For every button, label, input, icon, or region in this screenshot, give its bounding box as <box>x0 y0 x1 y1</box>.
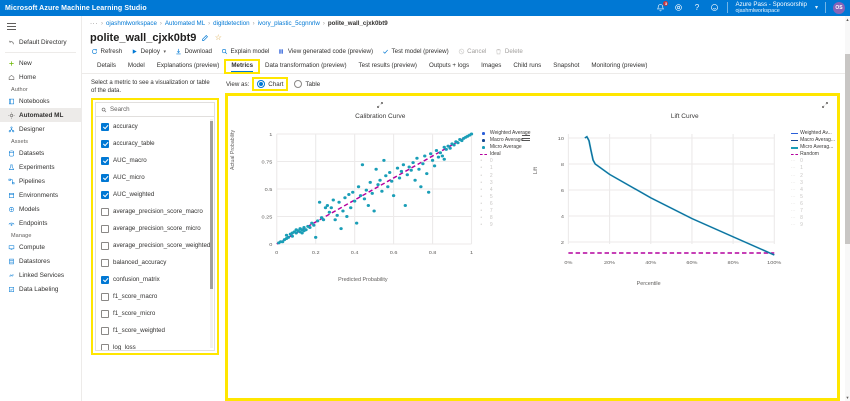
pipelines-icon <box>7 177 15 185</box>
chart-panel: View as: Chart Table <box>219 79 842 401</box>
tab-bar: Details Model Explanations (preview) Met… <box>82 58 850 74</box>
svg-text:0.5: 0.5 <box>265 187 273 193</box>
legend-item[interactable]: •9 <box>480 222 530 229</box>
svg-text:0: 0 <box>275 250 278 256</box>
svg-text:100%: 100% <box>767 260 782 266</box>
legend-item[interactable]: Macro Average <box>480 137 530 144</box>
metric-checkbox[interactable] <box>101 208 109 216</box>
svg-text:0.8: 0.8 <box>429 250 437 256</box>
search-input[interactable]: Search <box>96 103 214 117</box>
page-scrollbar[interactable]: ▲ ▼ <box>845 16 850 401</box>
notification-badge: 3 <box>663 1 668 6</box>
plus-icon <box>7 59 15 67</box>
svg-text:60%: 60% <box>686 260 697 266</box>
legend-marker-icon <box>791 145 798 150</box>
sidebar-item-datasets[interactable]: Datasets <box>0 146 81 160</box>
top-bar-actions: 3 ? Azure Pass - Sponsorship ojashmlwork… <box>655 1 845 14</box>
hamburger-menu-icon[interactable] <box>0 19 81 35</box>
legend-label: 6 <box>490 201 493 208</box>
legend-item[interactable]: Ideal <box>480 151 530 158</box>
metric-row-f1-micro[interactable]: f1_score_micro <box>96 305 214 322</box>
breadcrumb-item-current: polite_wall_cjxk0bt9 <box>328 20 388 27</box>
legend-marker-icon: • <box>480 216 487 221</box>
sidebar-item-datastores[interactable]: Datastores <box>0 254 81 268</box>
app-shell: Default Directory New Home Author Notebo… <box>0 16 850 401</box>
sidebar-item-default-directory[interactable]: Default Directory <box>0 35 81 49</box>
sidebar-item-label: Notebooks <box>19 98 50 105</box>
sidebar-item-models[interactable]: Models <box>0 202 81 216</box>
expand-icon[interactable] <box>821 101 829 109</box>
cancel-button: Cancel <box>458 48 487 55</box>
view-as-label: View as: <box>226 81 249 88</box>
legend-label: 0 <box>800 158 803 165</box>
tab-details[interactable]: Details <box>91 60 122 73</box>
toolbar-label: Deploy <box>141 48 160 55</box>
app-title: Microsoft Azure Machine Learning Studio <box>5 5 147 12</box>
sidebar-item-home[interactable]: Home <box>0 70 81 84</box>
legend-item[interactable]: Macro Averag... <box>791 137 835 144</box>
breadcrumb-separator: › <box>208 21 210 27</box>
tab-child-runs[interactable]: Child runs <box>507 60 547 73</box>
legend-item[interactable]: •3 <box>480 180 530 187</box>
metric-row-auc-weighted[interactable]: AUC_weighted <box>96 186 214 203</box>
legend-label: 8 <box>800 215 803 222</box>
sidebar-item-label: Models <box>19 206 40 213</box>
explain-model-button[interactable]: Explain model <box>221 48 269 55</box>
legend-label: 7 <box>490 208 493 215</box>
legend-item[interactable]: ⋯4 <box>791 187 835 194</box>
svg-text:10: 10 <box>557 136 563 142</box>
toolbar-label: Test model (preview) <box>392 48 449 55</box>
sidebar-item-environments[interactable]: Environments <box>0 188 81 202</box>
main-content: ··· › ojashmlworkspace › Automated ML › … <box>82 16 850 401</box>
legend-marker-icon: ⋯ <box>791 159 798 164</box>
breadcrumb-item-automated-ml[interactable]: Automated ML <box>165 20 205 27</box>
avatar[interactable]: OS <box>833 2 845 14</box>
legend-marker-icon: • <box>480 159 487 164</box>
legend-marker-icon: ⋯ <box>791 209 798 214</box>
search-placeholder: Search <box>110 106 130 113</box>
command-toolbar: Refresh Deploy ▾ Download Explain model <box>82 47 850 58</box>
legend-marker-icon: ⋯ <box>791 202 798 207</box>
notebook-icon <box>7 97 15 105</box>
svg-text:8: 8 <box>560 162 563 168</box>
metric-checkbox[interactable] <box>101 242 109 250</box>
tab-snapshot[interactable]: Snapshot <box>547 60 585 73</box>
legend-item[interactable]: ⋯8 <box>791 215 835 222</box>
tab-metrics[interactable]: Metrics <box>225 60 259 73</box>
legend-item[interactable]: Micro Average <box>480 144 530 151</box>
checkmark-icon <box>382 48 389 55</box>
calibration-curve-card: Calibration Curve <box>228 96 533 398</box>
legend-marker-icon: • <box>480 188 487 193</box>
delete-icon <box>495 48 502 55</box>
metric-checkbox[interactable] <box>101 259 109 267</box>
metric-checkbox[interactable] <box>101 191 109 199</box>
breadcrumb-item-workspace[interactable]: ojashmlworkspace <box>106 20 157 27</box>
legend-marker-icon: • <box>480 174 487 179</box>
metric-list-scrollbar[interactable] <box>210 119 213 348</box>
legend-item[interactable]: Weighted Av... <box>791 130 835 137</box>
svg-text:1: 1 <box>470 250 473 256</box>
toolbar-label: Refresh <box>101 48 123 55</box>
refresh-icon <box>91 48 98 55</box>
legend-label: 1 <box>800 165 803 172</box>
left-navigation: Default Directory New Home Author Notebo… <box>0 16 82 401</box>
legend-label: Ideal <box>490 151 501 158</box>
sidebar-item-endpoints[interactable]: Endpoints <box>0 216 81 230</box>
legend-item[interactable]: ⋯5 <box>791 194 835 201</box>
radio-label: Table <box>305 81 320 88</box>
legend-item[interactable]: •1 <box>480 165 530 172</box>
legend-label: 0 <box>490 158 493 165</box>
cancel-icon <box>458 48 465 55</box>
lift-legend: Weighted Av... Macro Averag... Micro Ave… <box>791 130 835 229</box>
tab-explanations[interactable]: Explanations (preview) <box>151 60 226 73</box>
sidebar-item-notebooks[interactable]: Notebooks <box>0 94 81 108</box>
legend-item[interactable]: •0 <box>480 158 530 165</box>
breadcrumb-separator: › <box>101 21 103 27</box>
favorite-star-icon[interactable]: ☆ <box>214 34 222 42</box>
radio-table[interactable]: Table <box>291 79 323 89</box>
scrollbar-thumb[interactable] <box>845 54 850 244</box>
legend-label: 2 <box>490 173 493 180</box>
scroll-up-arrow-icon[interactable]: ▲ <box>845 17 850 22</box>
tab-test-results[interactable]: Test results (preview) <box>353 60 423 73</box>
metric-label: accuracy <box>113 123 138 130</box>
sidebar-item-compute[interactable]: Compute <box>0 240 81 254</box>
environments-icon <box>7 191 15 199</box>
legend-marker-icon: • <box>480 167 487 172</box>
metric-checkbox[interactable] <box>101 293 109 301</box>
sidebar-item-label: Datasets <box>19 150 44 157</box>
legend-label: 8 <box>490 215 493 222</box>
sidebar-item-label: Pipelines <box>19 178 45 185</box>
metric-row-accuracy-table[interactable]: accuracy_table <box>96 135 214 152</box>
legend-label: Macro Average <box>490 137 524 144</box>
delete-button: Delete <box>495 48 522 55</box>
tab-model[interactable]: Model <box>122 60 151 73</box>
experiments-icon <box>7 163 15 171</box>
metric-label: f1_score_weighted <box>113 327 165 334</box>
back-arrow-icon <box>7 38 15 46</box>
legend-marker-icon <box>480 152 487 157</box>
sidebar-directory-label: Default Directory <box>19 39 67 46</box>
lift-curve-card: Lift Curve <box>533 96 838 398</box>
automated-ml-icon <box>7 111 15 119</box>
svg-text:0.75: 0.75 <box>262 160 273 166</box>
metric-label: log_loss <box>113 344 136 350</box>
breadcrumb-item-experiment[interactable]: digitdetection <box>213 20 249 27</box>
legend-item[interactable]: •7 <box>480 208 530 215</box>
metric-row-confusion-matrix[interactable]: confusion_matrix <box>96 271 214 288</box>
legend-marker-icon: • <box>480 202 487 207</box>
legend-marker-icon <box>480 145 487 150</box>
metric-label: AUC_macro <box>113 157 147 164</box>
metric-checkbox[interactable] <box>101 140 109 148</box>
metric-checkbox[interactable] <box>101 327 109 335</box>
svg-text:0.4: 0.4 <box>351 250 359 256</box>
metric-label: f1_score_macro <box>113 293 157 300</box>
legend-item[interactable]: •6 <box>480 201 530 208</box>
metric-label: AUC_micro <box>113 174 145 181</box>
y-axis-label: Actual Probability <box>230 130 236 170</box>
legend-item[interactable]: ⋯9 <box>791 222 835 229</box>
models-icon <box>7 205 15 213</box>
metric-list-container: Search accuracy accuracy_table <box>95 102 215 351</box>
charts-highlight-region: Calibration Curve <box>225 93 840 401</box>
legend-marker-icon: ⋯ <box>791 181 798 186</box>
account-switcher[interactable]: Azure Pass - Sponsorship ojashmlworkspac… <box>735 1 808 14</box>
metric-checkbox[interactable] <box>101 157 109 165</box>
sidebar-item-label: Environments <box>19 192 58 199</box>
page-title: polite_wall_cjxk0bt9 <box>90 32 196 44</box>
metric-checkbox[interactable] <box>101 344 109 351</box>
legend-item[interactable]: ⋯3 <box>791 180 835 187</box>
code-icon <box>278 48 285 55</box>
data-labeling-icon <box>7 285 15 293</box>
legend-label: Weighted Average <box>490 130 531 137</box>
legend-item[interactable]: •4 <box>480 187 530 194</box>
sidebar-item-label: Designer <box>19 126 45 133</box>
metric-row-auc-macro[interactable]: AUC_macro <box>96 152 214 169</box>
legend-label: Micro Averag... <box>800 144 833 151</box>
sidebar-item-designer[interactable]: Designer <box>0 122 81 136</box>
legend-label: 1 <box>490 165 493 172</box>
feedback-icon[interactable] <box>709 2 720 13</box>
view-generated-code-button[interactable]: View generated code (preview) <box>278 48 373 55</box>
metric-label: AUC_weighted <box>113 191 154 198</box>
radio-dot-icon <box>257 80 265 88</box>
legend-marker-icon: • <box>480 209 487 214</box>
svg-text:6: 6 <box>560 188 563 194</box>
legend-label: 6 <box>800 201 803 208</box>
divider <box>825 2 826 13</box>
sidebar-item-data-labeling[interactable]: Data Labeling <box>0 282 81 296</box>
metric-list-highlight: Search accuracy accuracy_table <box>91 98 219 355</box>
legend-item[interactable]: Random <box>791 151 835 158</box>
breadcrumb-overflow[interactable]: ··· <box>90 20 98 27</box>
tab-data-transformation[interactable]: Data transformation (preview) <box>259 60 353 73</box>
search-icon <box>100 106 107 113</box>
tab-monitoring[interactable]: Monitoring (preview) <box>585 60 653 73</box>
legend-label: 9 <box>800 222 803 229</box>
sidebar-item-linked-services[interactable]: Linked Services <box>0 268 81 282</box>
legend-marker-icon <box>791 152 798 157</box>
sidebar-item-label: Datastores <box>19 258 50 265</box>
sidebar-item-automated-ml[interactable]: Automated ML <box>0 108 81 122</box>
legend-marker-icon: ⋯ <box>791 174 798 179</box>
legend-marker-icon: ⋯ <box>791 216 798 221</box>
legend-label: 5 <box>800 194 803 201</box>
legend-label: 7 <box>800 208 803 215</box>
chart-title: Calibration Curve <box>230 113 531 120</box>
legend-label: Weighted Av... <box>800 130 832 137</box>
endpoints-icon <box>7 219 15 227</box>
legend-label: Micro Average <box>490 144 522 151</box>
help-icon[interactable]: ? <box>691 2 702 13</box>
breadcrumb: ··· › ojashmlworkspace › Automated ML › … <box>82 16 850 31</box>
svg-text:1: 1 <box>269 132 272 138</box>
metric-row-accuracy[interactable]: accuracy <box>96 118 214 135</box>
legend-label: Random <box>800 151 819 158</box>
sidebar-item-label: Compute <box>19 244 45 251</box>
tab-outputs-logs[interactable]: Outputs + logs <box>423 60 475 73</box>
metric-label: f1_score_micro <box>113 310 155 317</box>
breadcrumb-item-run[interactable]: ivory_plastic_5cgnnrlw <box>258 20 320 27</box>
deploy-button[interactable]: Deploy ▾ <box>131 48 166 55</box>
explain-model-icon <box>221 48 228 55</box>
metric-row-aps-micro[interactable]: average_precision_score_micro <box>96 220 214 237</box>
legend-item[interactable]: Weighted Average <box>480 130 530 137</box>
metric-row-aps-weighted[interactable]: average_precision_score_weighted <box>96 237 214 254</box>
metric-list[interactable]: accuracy accuracy_table AUC_macro <box>96 117 214 350</box>
legend-marker-icon: • <box>480 181 487 186</box>
test-model-button[interactable]: Test model (preview) <box>382 48 449 55</box>
legend-marker-icon <box>791 131 798 136</box>
toolbar-label: Explain model <box>230 48 269 55</box>
toolbar-label: View generated code (preview) <box>288 48 373 55</box>
svg-text:0.25: 0.25 <box>262 215 273 221</box>
svg-text:0.6: 0.6 <box>390 250 398 256</box>
radio-dot-icon <box>294 80 302 88</box>
metric-row-balanced-accuracy[interactable]: balanced_accuracy <box>96 254 214 271</box>
metric-row-f1-weighted[interactable]: f1_score_weighted <box>96 322 214 339</box>
legend-marker-icon: ⋯ <box>791 223 798 228</box>
divider <box>5 52 76 53</box>
legend-marker-icon: • <box>480 223 487 228</box>
compute-icon <box>7 243 15 251</box>
chart-title: Lift Curve <box>535 113 836 120</box>
metric-row-auc-micro[interactable]: AUC_micro <box>96 169 214 186</box>
sidebar-group-manage: Manage <box>0 230 81 240</box>
divider <box>727 2 728 13</box>
metric-checkbox[interactable] <box>101 225 109 233</box>
svg-text:0: 0 <box>269 242 272 248</box>
legend-label: 3 <box>800 180 803 187</box>
legend-marker-icon <box>480 131 487 136</box>
account-workspace: ojashmlworkspace <box>735 8 807 14</box>
legend-label: 9 <box>490 222 493 229</box>
sidebar-group-assets: Assets <box>0 136 81 146</box>
account-subscription: Azure Pass - Sponsorship <box>735 1 807 8</box>
linked-services-icon <box>7 271 15 279</box>
view-as-control: View as: Chart Table <box>225 79 842 89</box>
metric-checkbox[interactable] <box>101 123 109 131</box>
svg-text:2: 2 <box>560 240 563 246</box>
tab-images[interactable]: Images <box>475 60 507 73</box>
legend-label: 4 <box>800 187 803 194</box>
sidebar-item-label: Endpoints <box>19 220 47 227</box>
metric-checkbox[interactable] <box>101 174 109 182</box>
datastores-icon <box>7 257 15 265</box>
legend-item[interactable]: ⋯2 <box>791 173 835 180</box>
legend-item[interactable]: •2 <box>480 173 530 180</box>
metric-row-f1-macro[interactable]: f1_score_macro <box>96 288 214 305</box>
bell-icon[interactable]: 3 <box>655 2 666 13</box>
legend-item[interactable]: •8 <box>480 215 530 222</box>
page-title-row: polite_wall_cjxk0bt9 ☆ <box>82 31 850 47</box>
legend-item[interactable]: ⋯7 <box>791 208 835 215</box>
svg-text:0.2: 0.2 <box>312 250 320 256</box>
edit-pencil-icon[interactable] <box>201 34 209 42</box>
scrollbar-thumb[interactable] <box>210 121 213 289</box>
sidebar-group-author: Author <box>0 84 81 94</box>
toolbar-label: Download <box>184 48 212 55</box>
gear-icon[interactable] <box>673 2 684 13</box>
deploy-icon <box>131 48 138 55</box>
metric-row-aps-macro[interactable]: average_precision_score_macro <box>96 203 214 220</box>
download-button[interactable]: Download <box>175 48 212 55</box>
metric-label: accuracy_table <box>113 140 155 147</box>
sidebar-item-new[interactable]: New <box>0 56 81 70</box>
download-icon <box>175 48 182 55</box>
sidebar-item-label: Automated ML <box>19 112 63 119</box>
metric-label: balanced_accuracy <box>113 259 166 266</box>
x-axis-label: Predicted Probability <box>338 277 387 283</box>
home-icon <box>7 73 15 81</box>
refresh-button[interactable]: Refresh <box>91 48 122 55</box>
x-axis-label: Percentile <box>637 281 661 287</box>
chevron-down-icon[interactable]: ▾ <box>163 49 166 55</box>
svg-text:4: 4 <box>560 214 563 220</box>
svg-text:0%: 0% <box>564 260 572 266</box>
top-app-bar: Microsoft Azure Machine Learning Studio … <box>0 0 850 16</box>
chevron-down-icon[interactable]: ▾ <box>815 4 818 11</box>
designer-icon <box>7 125 15 133</box>
scroll-down-arrow-icon[interactable]: ▼ <box>845 395 850 400</box>
legend-marker-icon: ⋯ <box>791 167 798 172</box>
legend-marker-icon: ⋯ <box>791 188 798 193</box>
legend-label: 5 <box>490 194 493 201</box>
metric-label: average_precision_score_weighted <box>113 242 210 249</box>
datasets-icon <box>7 149 15 157</box>
legend-item[interactable]: ⋯0 <box>791 158 835 165</box>
radio-chart[interactable]: Chart <box>254 79 286 89</box>
svg-text:80%: 80% <box>727 260 738 266</box>
legend-label: Macro Averag... <box>800 137 835 144</box>
legend-item[interactable]: Micro Averag... <box>791 144 835 151</box>
legend-item[interactable]: ⋯6 <box>791 201 835 208</box>
metric-selector-panel: Select a metric to see a visualization o… <box>91 79 219 401</box>
expand-icon[interactable] <box>376 101 384 109</box>
sidebar-item-label: New <box>19 60 32 67</box>
legend-marker-icon <box>791 138 798 143</box>
legend-label: 2 <box>800 173 803 180</box>
legend-marker-icon: • <box>480 195 487 200</box>
breadcrumb-separator: › <box>253 21 255 27</box>
radio-label: Chart <box>268 81 283 88</box>
metric-checkbox[interactable] <box>101 276 109 284</box>
sidebar-item-label: Experiments <box>19 164 55 171</box>
metric-label: average_precision_score_macro <box>113 208 203 215</box>
sidebar-item-experiments[interactable]: Experiments <box>0 160 81 174</box>
metric-checkbox[interactable] <box>101 310 109 318</box>
metric-help-text: Select a metric to see a visualization o… <box>91 79 211 95</box>
svg-text:40%: 40% <box>645 260 656 266</box>
breadcrumb-separator: › <box>323 21 325 27</box>
legend-item[interactable]: •5 <box>480 194 530 201</box>
toolbar-label: Delete <box>505 48 523 55</box>
sidebar-item-pipelines[interactable]: Pipelines <box>0 174 81 188</box>
calibration-legend: Weighted Average Macro Average Micro Ave… <box>480 130 530 229</box>
metric-label: confusion_matrix <box>113 276 160 283</box>
legend-item[interactable]: ⋯1 <box>791 165 835 172</box>
svg-text:20%: 20% <box>604 260 615 266</box>
metric-row-log-loss[interactable]: log_loss <box>96 339 214 350</box>
metrics-content: Select a metric to see a visualization o… <box>82 74 850 401</box>
sidebar-item-label: Home <box>19 74 36 81</box>
